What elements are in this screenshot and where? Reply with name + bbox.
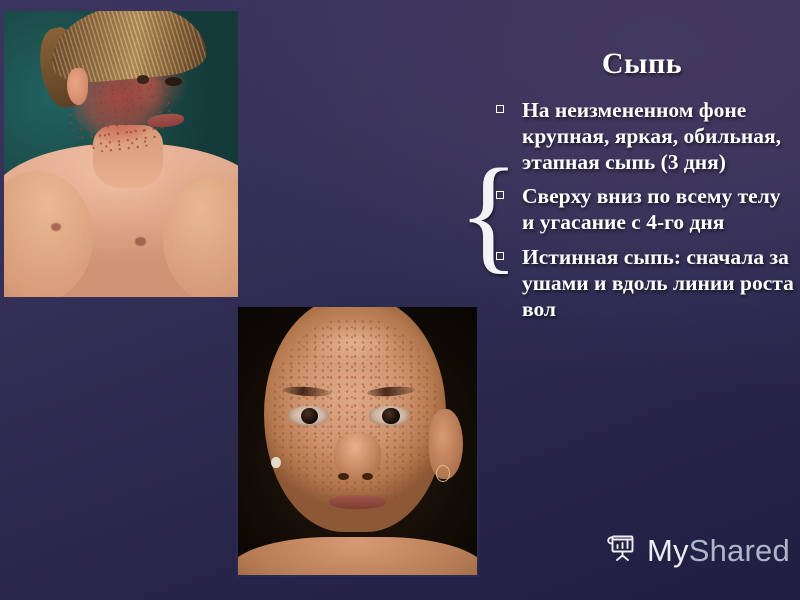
child-eye-right [369,406,410,426]
child-shoulders [236,537,479,577]
presentation-slide: { Сыпь На неизмененном фоне крупная, ярк… [0,0,800,600]
child-eye-left [137,75,149,84]
myshared-watermark[interactable]: MyShared [604,531,790,570]
flipchart-bar-chart-icon [604,531,638,570]
logo-text-my: My [647,533,689,568]
myshared-logo-text: MyShared [647,533,790,569]
child-mouth [329,495,386,509]
child-eye-left [288,406,329,426]
list-item: Сверху вниз по всему телу и угасание с 4… [492,184,798,236]
bullet-list: На неизмененном фоне крупная, яркая, оби… [492,98,798,331]
list-item: На неизмененном фоне крупная, яркая, оби… [492,98,798,175]
photo-measles-child-closeup [236,305,479,577]
logo-text-shared: Shared [689,533,790,568]
photo-measles-child-upper [4,11,238,297]
bullet-square-icon [496,252,504,260]
bullet-square-icon [496,191,504,199]
list-item-label: На неизмененном фоне крупная, яркая, оби… [522,98,781,174]
list-item-label: Сверху вниз по всему телу и угасание с 4… [522,184,781,234]
slide-title: Сыпь [492,47,792,81]
child-chest-mark-right [135,237,146,246]
list-item: Истинная сыпь: сначала за ушами и вдоль … [492,245,798,322]
child-ear [67,68,88,105]
bullet-square-icon [496,105,504,113]
list-item-label: Истинная сыпь: сначала за ушами и вдоль … [522,245,794,321]
